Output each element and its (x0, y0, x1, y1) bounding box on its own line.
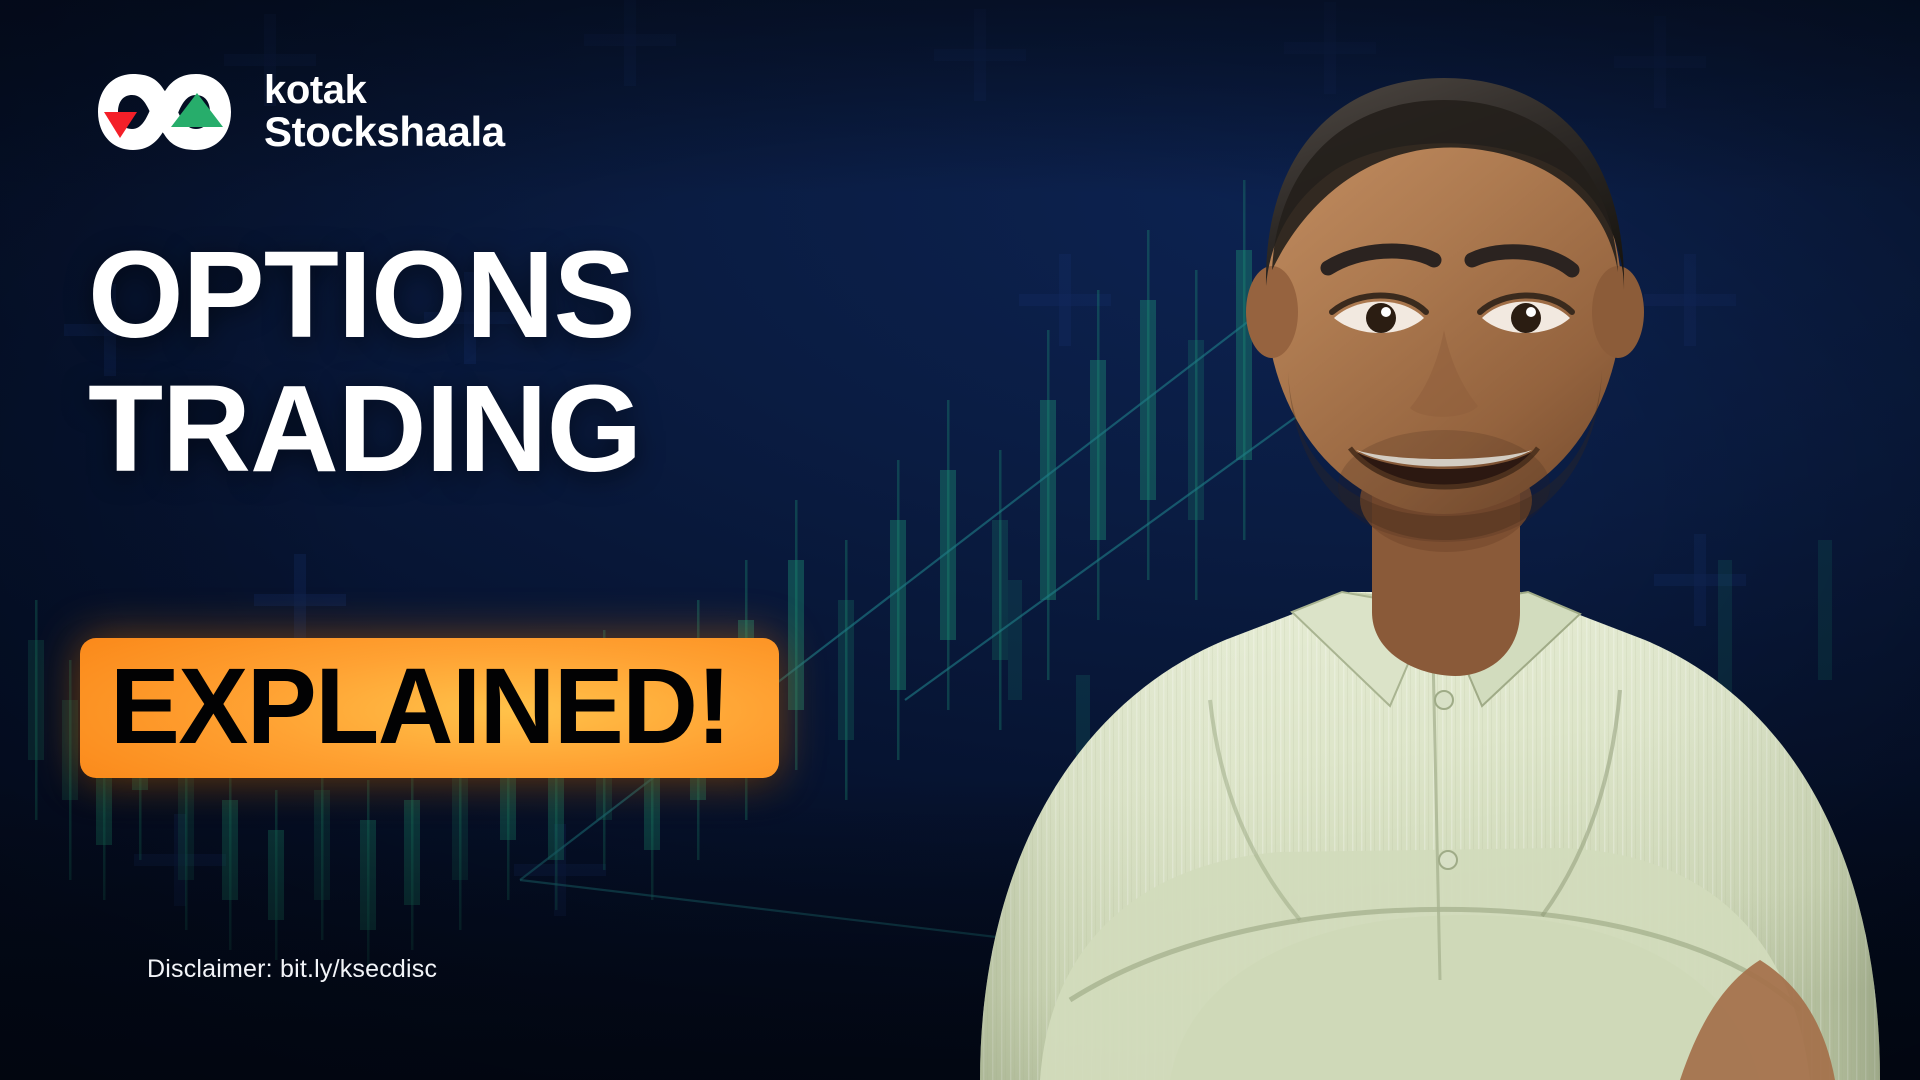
brand-wordmark: kotak Stockshaala (264, 71, 505, 152)
explained-label: EXPLAINED! (110, 652, 730, 760)
thumbnail-canvas: kotak Stockshaala OPTIONS TRADING EXPLAI… (0, 0, 1920, 1080)
brand-line-stockshaala: Stockshaala (264, 111, 505, 153)
headline-line-2: TRADING (88, 372, 641, 488)
explained-banner-wrap: EXPLAINED! (80, 638, 779, 778)
background-edge-shade (0, 0, 1920, 1080)
brand-logo[interactable]: kotak Stockshaala (92, 66, 505, 158)
brand-line-kotak: kotak (264, 71, 505, 111)
explained-banner: EXPLAINED! (80, 638, 779, 778)
headline-line-1: OPTIONS (88, 227, 635, 364)
kotak-stockshaala-infinity-logo-icon (92, 66, 242, 158)
disclaimer-text: Disclaimer: bit.ly/ksecdisc (147, 955, 437, 984)
page-title: OPTIONS TRADING (88, 238, 641, 487)
